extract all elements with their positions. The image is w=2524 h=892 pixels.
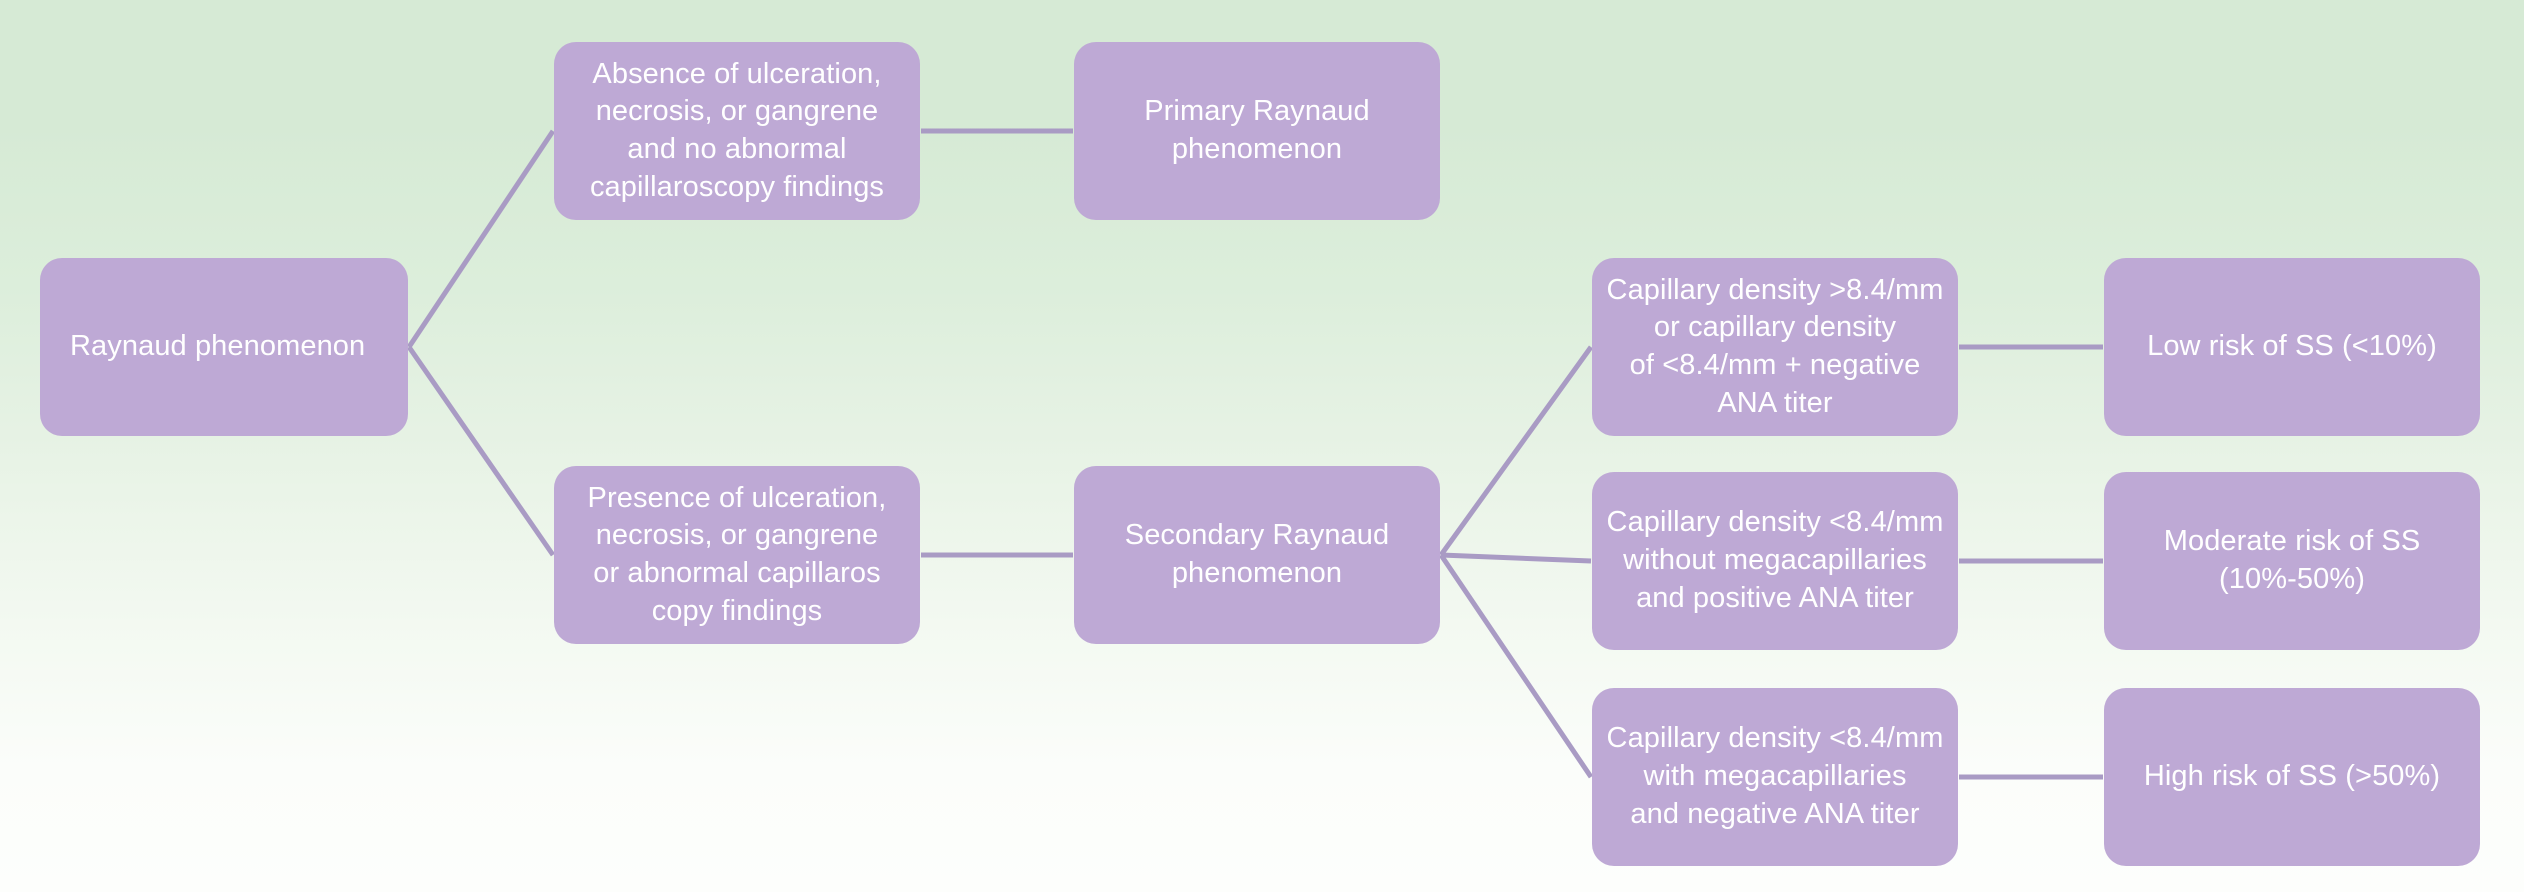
node-cap-moderate[interactable]: Capillary density <8.4/mm without megaca… <box>1592 472 1958 650</box>
node-label-cap-low: Capillary density >8.4/mm or capillary d… <box>1607 272 1944 423</box>
edge-secondary-to-cap-low <box>1441 347 1591 555</box>
edge-secondary-to-cap-high <box>1441 555 1591 777</box>
node-risk-moderate[interactable]: Moderate risk of SS (10%-50%) <box>2104 472 2480 650</box>
node-label-root: Raynaud phenomenon <box>70 328 365 366</box>
node-label-risk-moderate: Moderate risk of SS (10%-50%) <box>2164 523 2421 598</box>
node-label-presence: Presence of ulceration, necrosis, or gan… <box>588 480 887 631</box>
flowchart-canvas: Raynaud phenomenonAbsence of ulceration,… <box>0 0 2524 892</box>
node-label-risk-low: Low risk of SS (<10%) <box>2147 328 2437 366</box>
node-cap-high[interactable]: Capillary density <8.4/mm with megacapil… <box>1592 688 1958 866</box>
node-absence[interactable]: Absence of ulceration, necrosis, or gang… <box>554 42 920 220</box>
node-secondary[interactable]: Secondary Raynaud phenomenon <box>1074 466 1440 644</box>
node-primary[interactable]: Primary Raynaud phenomenon <box>1074 42 1440 220</box>
node-root[interactable]: Raynaud phenomenon <box>40 258 408 436</box>
node-presence[interactable]: Presence of ulceration, necrosis, or gan… <box>554 466 920 644</box>
node-label-risk-high: High risk of SS (>50%) <box>2144 758 2440 796</box>
edge-root-to-absence <box>409 131 553 347</box>
node-label-secondary: Secondary Raynaud phenomenon <box>1125 517 1389 592</box>
node-risk-high[interactable]: High risk of SS (>50%) <box>2104 688 2480 866</box>
node-cap-low[interactable]: Capillary density >8.4/mm or capillary d… <box>1592 258 1958 436</box>
node-risk-low[interactable]: Low risk of SS (<10%) <box>2104 258 2480 436</box>
node-label-absence: Absence of ulceration, necrosis, or gang… <box>590 56 884 207</box>
node-label-primary: Primary Raynaud phenomenon <box>1144 93 1370 168</box>
node-label-cap-high: Capillary density <8.4/mm with megacapil… <box>1607 720 1944 833</box>
edge-secondary-to-cap-moderate <box>1441 555 1591 561</box>
node-label-cap-moderate: Capillary density <8.4/mm without megaca… <box>1607 504 1944 617</box>
edge-root-to-presence <box>409 347 553 555</box>
